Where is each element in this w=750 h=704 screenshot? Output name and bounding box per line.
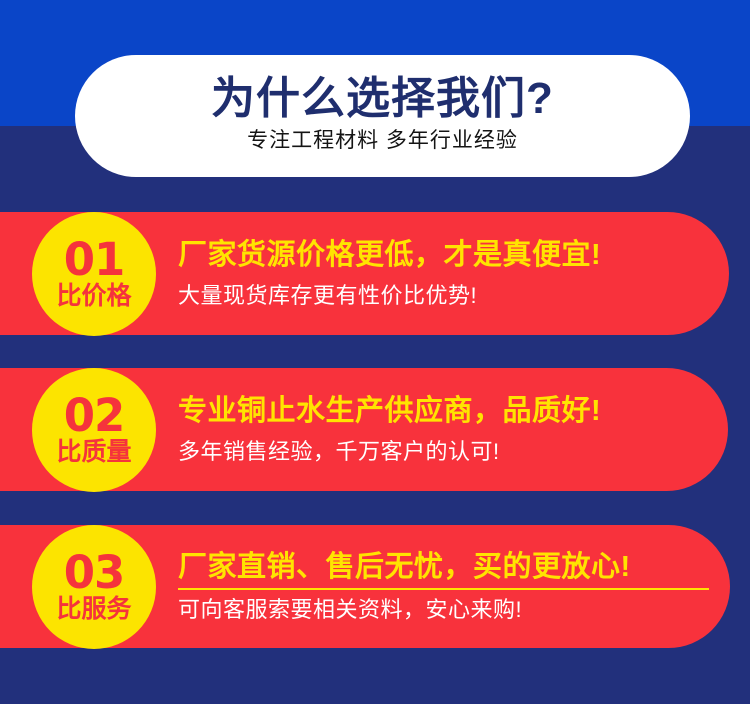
header-pill: 为什么选择我们? 专注工程材料 多年行业经验 (75, 55, 690, 177)
badge-label-2: 比质量 (56, 440, 131, 465)
badge-1: 01 比价格 (32, 212, 156, 336)
card-3-subtext: 可向客服索要相关资料，安心来购! (178, 597, 718, 622)
badge-number-1: 01 (64, 239, 125, 282)
badge-3: 03 比服务 (32, 525, 156, 649)
card-2-headline: 专业铜止水生产供应商，品质好! (178, 395, 718, 428)
badge-2: 02 比质量 (32, 368, 156, 492)
page-subtitle: 专注工程材料 多年行业经验 (247, 129, 518, 152)
card-3-headline: 厂家直销、售后无忧，买的更放心! (178, 551, 709, 589)
card-2-subtext: 多年销售经验，千万客户的认可! (178, 439, 718, 464)
card-1-subtext: 大量现货库存更有性价比优势! (178, 283, 718, 308)
feature-card-3-text: 厂家直销、售后无忧，买的更放心! 可向客服索要相关资料，安心来购! (178, 535, 718, 638)
badge-number-3: 03 (64, 552, 125, 595)
page-title: 为什么选择我们? (211, 76, 554, 122)
promo-banner: 为什么选择我们? 专注工程材料 多年行业经验 01 比价格 厂家货源价格更低，才… (0, 0, 750, 704)
feature-card-2-text: 专业铜止水生产供应商，品质好! 多年销售经验，千万客户的认可! (178, 378, 718, 481)
badge-label-1: 比价格 (56, 284, 131, 309)
card-1-headline: 厂家货源价格更低，才是真便宜! (178, 239, 718, 272)
badge-number-2: 02 (64, 395, 125, 438)
badge-label-3: 比服务 (56, 597, 131, 622)
feature-card-1-text: 厂家货源价格更低，才是真便宜! 大量现货库存更有性价比优势! (178, 222, 718, 325)
